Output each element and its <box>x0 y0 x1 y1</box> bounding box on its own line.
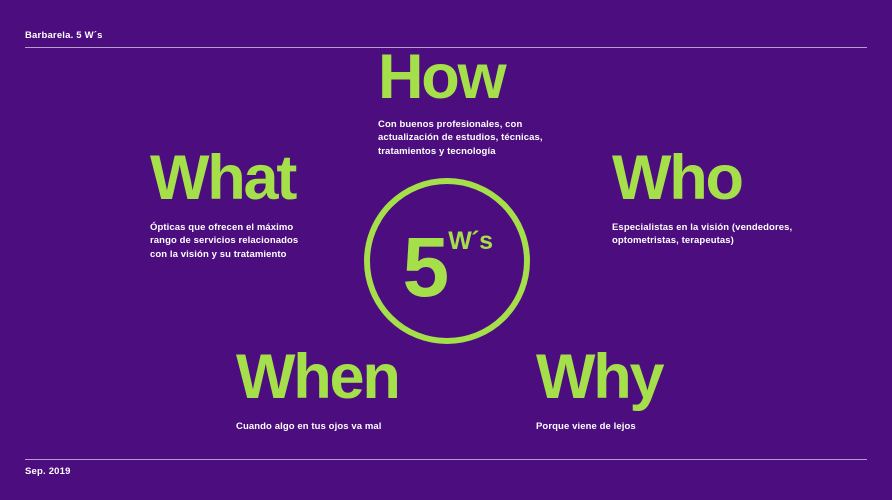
block-who-title: Who <box>612 153 792 205</box>
block-how: How Con buenos profesionales, con actual… <box>378 52 543 158</box>
footer-divider <box>25 459 867 460</box>
block-who: Who Especialistas en la visión (vendedor… <box>612 153 792 248</box>
center-badge-number: 5 <box>402 225 447 309</box>
block-what-body: Ópticas que ofrecen el máximo rango de s… <box>150 221 298 261</box>
center-badge-suffix: W´s <box>448 229 492 254</box>
block-when-body: Cuando algo en tus ojos va mal <box>236 420 399 433</box>
block-why-title: Why <box>536 352 662 404</box>
block-when-title: When <box>236 352 399 404</box>
slide-footer-date: Sep. 2019 <box>25 466 71 477</box>
center-badge: 5 W´s <box>364 178 530 344</box>
slide-canvas: Barbarela. 5 W´s How Con buenos profesio… <box>0 0 892 500</box>
block-when: When Cuando algo en tus ojos va mal <box>236 352 399 433</box>
block-what: What Ópticas que ofrecen el máximo rango… <box>150 153 298 261</box>
center-badge-label: 5 W´s <box>364 178 530 344</box>
block-why-body: Porque viene de lejos <box>536 420 662 433</box>
block-who-body: Especialistas en la visión (vendedores, … <box>612 221 792 248</box>
slide-header-title: Barbarela. 5 W´s <box>25 30 103 41</box>
block-why: Why Porque viene de lejos <box>536 352 662 433</box>
block-what-title: What <box>150 153 298 205</box>
block-how-body: Con buenos profesionales, con actualizac… <box>378 118 543 158</box>
block-how-title: How <box>378 52 543 104</box>
